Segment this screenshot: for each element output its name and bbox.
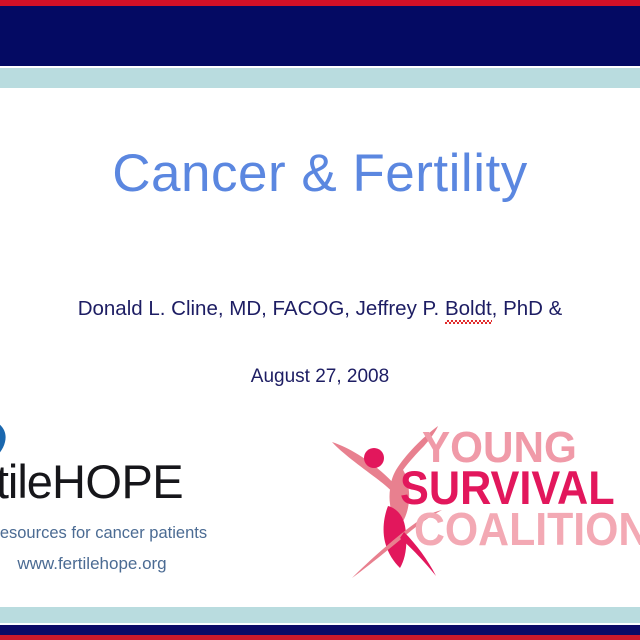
bottom-navy-banner: [0, 625, 640, 635]
byline-misspelled-word: Boldt: [445, 297, 492, 321]
presentation-slide: Cancer & Fertility Donald L. Cline, MD, …: [0, 0, 640, 640]
fertile-hope-logo: fertileHOPE ty resources for cancer pati…: [0, 414, 244, 579]
ysc-wordmark: YOUNG SURVIVAL COALITION: [422, 430, 640, 548]
ysc-word-coalition: COALITION: [414, 511, 640, 549]
top-light-blue-stripe: [0, 68, 640, 88]
fertile-hope-wordmark: fertileHOPE: [0, 458, 244, 505]
fertile-hope-url[interactable]: www.fertilehope.org: [0, 554, 240, 574]
fertile-hope-word-light: fertile: [0, 455, 52, 508]
slide-date: August 27, 2008: [0, 366, 640, 388]
byline-text-after: , PhD &: [492, 297, 563, 320]
bottom-light-blue-stripe: [0, 607, 640, 623]
bottom-red-stripe: [0, 635, 640, 640]
byline-text-before: Donald L. Cline, MD, FACOG, Jeffrey P.: [78, 297, 445, 320]
slide-title: Cancer & Fertility: [0, 143, 640, 204]
slide-byline: Donald L. Cline, MD, FACOG, Jeffrey P. B…: [0, 297, 640, 321]
young-survival-coalition-logo: YOUNG SURVIVAL COALITION: [330, 420, 640, 580]
fertile-hope-word-bold: HOPE: [52, 455, 183, 508]
top-navy-banner: [0, 6, 640, 66]
fertile-hope-tagline: ty resources for cancer patients: [0, 524, 240, 543]
